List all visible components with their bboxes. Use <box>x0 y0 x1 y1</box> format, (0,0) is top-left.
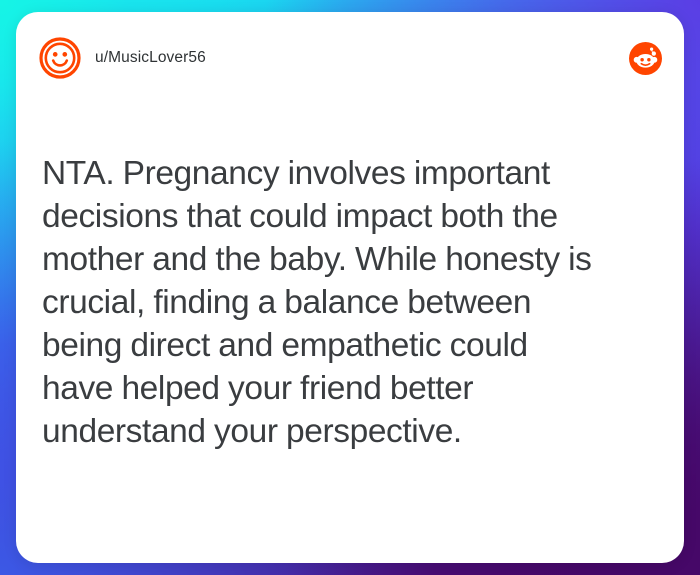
post-card: u/MusicLover56 <box>16 12 684 563</box>
reddit-snoo-icon[interactable] <box>629 42 662 75</box>
post-header: u/MusicLover56 <box>16 12 684 104</box>
post-body: NTA. Pregnancy involves important decisi… <box>42 152 658 453</box>
post-text: NTA. Pregnancy involves important decisi… <box>42 152 658 453</box>
screenshot-root: u/MusicLover56 <box>0 0 700 575</box>
smiley-face-icon[interactable] <box>38 36 82 80</box>
username-label: u/MusicLover56 <box>95 49 206 67</box>
